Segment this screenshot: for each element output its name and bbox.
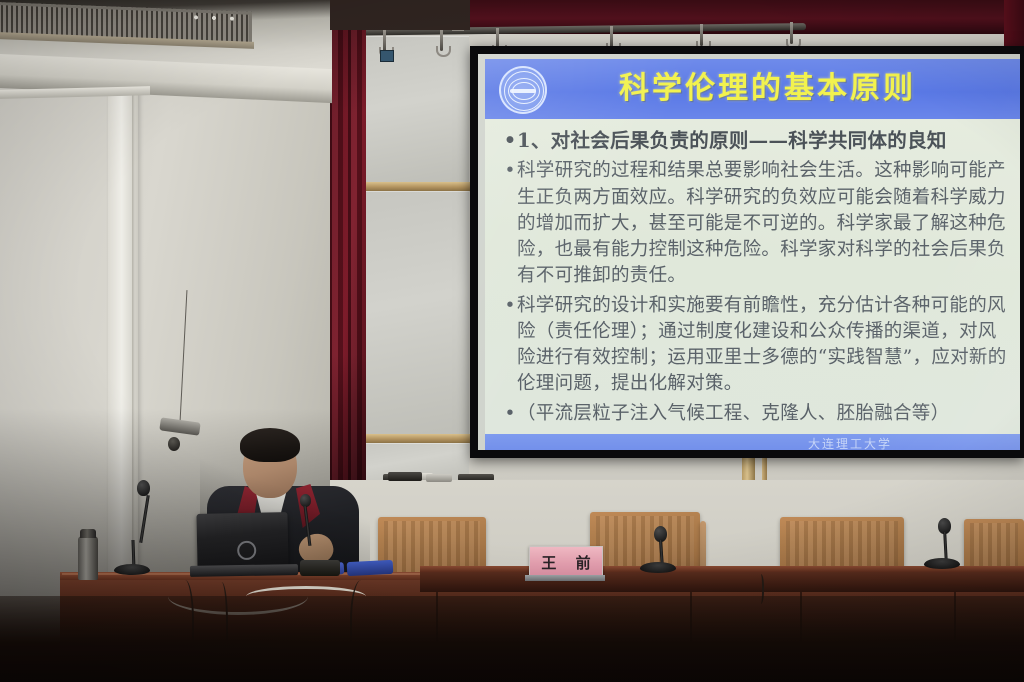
slide-header: 科学伦理的基本原则 bbox=[485, 59, 1020, 119]
dell-laptop-screen bbox=[196, 512, 288, 569]
projection-surface: 科学伦理的基本原则 • 1、对社会后果负责的原则——科学共同体的良知 • 科学研… bbox=[478, 54, 1020, 450]
desk-device bbox=[300, 560, 340, 576]
ledge-remote bbox=[388, 472, 422, 481]
curtain-hook-6 bbox=[790, 22, 793, 44]
curtain-right-edge bbox=[1004, 0, 1024, 48]
bullet-text: 1、对社会后果负责的原则——科学共同体的良知 bbox=[517, 127, 1008, 155]
microphone-base-left bbox=[114, 564, 150, 575]
curtain-hook-4 bbox=[610, 26, 613, 48]
slide-title: 科学伦理的基本原则 bbox=[485, 59, 1020, 119]
blue-desk-object bbox=[347, 560, 394, 576]
bullet-text: 科学研究的过程和结果总要影响社会生活。这种影响可能产生正负两方面效应。科学研究的… bbox=[517, 158, 1008, 289]
thermos-bottle bbox=[78, 536, 98, 580]
dell-logo-icon bbox=[237, 541, 256, 560]
presentation-slide: 科学伦理的基本原则 • 1、对社会后果负责的原则——科学共同体的良知 • 科学研… bbox=[485, 59, 1020, 447]
lecture-hall-photo: 科学伦理的基本原则 • 1、对社会后果负责的原则——科学共同体的良知 • 科学研… bbox=[0, 0, 1024, 682]
curtain-clip bbox=[380, 50, 394, 62]
slide-bullet: • 1、对社会后果负责的原则——科学共同体的良知 bbox=[503, 127, 1008, 155]
foreground-shadow bbox=[0, 596, 1024, 682]
upper-dark-wall bbox=[330, 0, 470, 30]
slide-bullet: • 科学研究的过程和结果总要影响社会生活。这种影响可能产生正负两方面效应。科学研… bbox=[503, 158, 1008, 289]
speaker-hair bbox=[240, 428, 300, 462]
slide-body: • 1、对社会后果负责的原则——科学共同体的良知 • 科学研究的过程和结果总要影… bbox=[485, 119, 1020, 434]
bullet-text: 科学研究的设计和实施要有前瞻性，充分估计各种可能的风险（责任伦理）；通过制度化建… bbox=[517, 293, 1008, 398]
curtain-hook-5 bbox=[700, 24, 703, 46]
vent-screws bbox=[190, 13, 238, 31]
curtain-hook-2 bbox=[440, 29, 443, 51]
thermos-cap bbox=[80, 529, 96, 538]
microphone-base-center bbox=[640, 562, 676, 573]
ledge-eraser bbox=[426, 474, 452, 482]
slide-bullet: • 科学研究的设计和实施要有前瞻性，充分估计各种可能的风险（责任伦理）；通过制度… bbox=[503, 293, 1008, 398]
curtain-hook-1 bbox=[383, 30, 386, 52]
bullet-text: （平流层粒子注入气候工程、克隆人、胚胎融合等） bbox=[517, 401, 1008, 427]
bullet-marker: • bbox=[503, 127, 517, 155]
slide-footer: 大连理工大学 bbox=[485, 434, 1020, 450]
microphone-base-right bbox=[924, 558, 960, 569]
slide-footer-text: 大连理工大学 bbox=[808, 435, 892, 450]
name-plate: 王 前 bbox=[529, 546, 603, 578]
university-seal-icon bbox=[499, 66, 547, 114]
slide-bullet: • （平流层粒子注入气候工程、克隆人、胚胎融合等） bbox=[503, 401, 1008, 427]
microphone-head-left bbox=[137, 480, 150, 496]
wall-knob bbox=[168, 437, 180, 451]
name-plate-text: 王 前 bbox=[534, 552, 597, 573]
projection-screen: 科学伦理的基本原则 • 1、对社会后果负责的原则——科学共同体的良知 • 科学研… bbox=[470, 46, 1024, 458]
bullet-marker: • bbox=[503, 158, 517, 184]
dell-laptop-base bbox=[190, 564, 298, 577]
bullet-marker: • bbox=[503, 293, 517, 319]
name-plate-stand bbox=[525, 575, 605, 581]
bullet-marker: • bbox=[503, 401, 517, 427]
